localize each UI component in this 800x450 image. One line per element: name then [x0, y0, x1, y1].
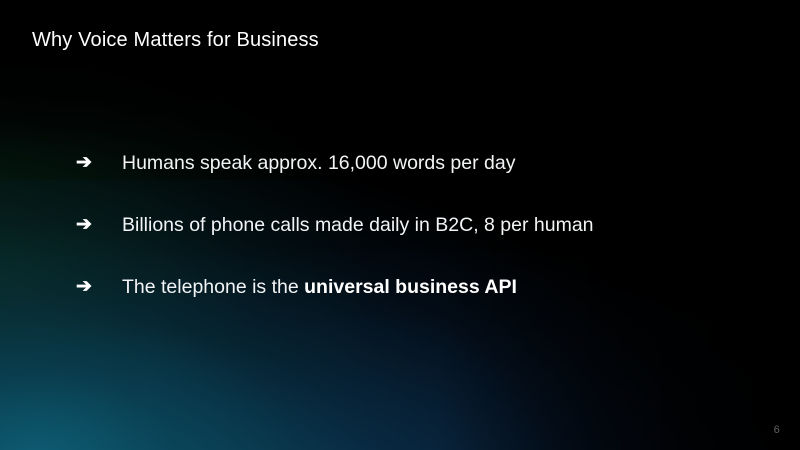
- list-item-emphasis: universal business API: [304, 276, 517, 298]
- page-title: Why Voice Matters for Business: [32, 29, 319, 52]
- bullet-list: ➔ Humans speak approx. 16,000 words per …: [76, 148, 766, 334]
- list-item: ➔ Humans speak approx. 16,000 words per …: [76, 148, 766, 210]
- list-item-label: Humans speak approx. 16,000 words per da…: [122, 148, 515, 178]
- list-item-text: Billions of phone calls made daily in B2…: [122, 214, 594, 236]
- page-number: 6: [774, 424, 780, 436]
- presentation-slide: Why Voice Matters for Business ➔ Humans …: [0, 0, 800, 450]
- arrow-right-icon: ➔: [76, 148, 122, 178]
- arrow-right-icon: ➔: [76, 272, 122, 302]
- list-item-text: The telephone is the: [122, 276, 304, 298]
- arrow-right-icon: ➔: [76, 210, 122, 240]
- list-item-label: The telephone is the universal business …: [122, 272, 517, 302]
- list-item-text: Humans speak approx. 16,000 words per da…: [122, 152, 515, 174]
- slide-content: Why Voice Matters for Business ➔ Humans …: [0, 0, 800, 450]
- list-item: ➔ The telephone is the universal busines…: [76, 272, 766, 334]
- list-item: ➔ Billions of phone calls made daily in …: [76, 210, 766, 272]
- list-item-label: Billions of phone calls made daily in B2…: [122, 210, 594, 240]
